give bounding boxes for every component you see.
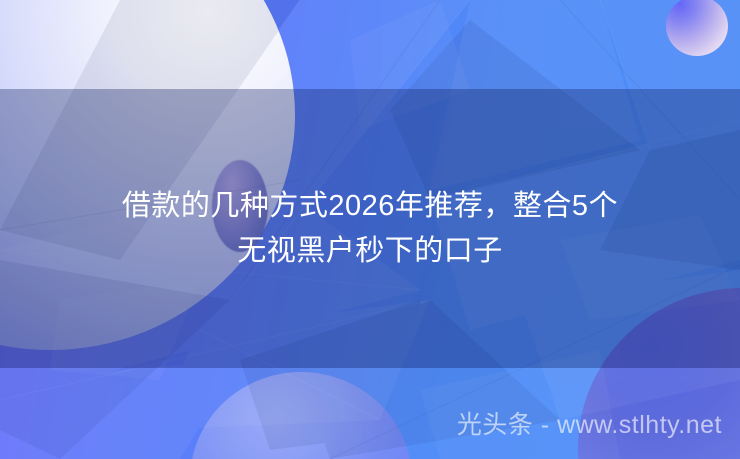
banner-title: 借款的几种方式2026年推荐，整合5个 无视黑户秒下的口子 bbox=[0, 184, 740, 274]
promo-banner-image: 借款的几种方式2026年推荐，整合5个 无视黑户秒下的口子 光头条 - www.… bbox=[0, 0, 740, 459]
ellipse-blob-top-right bbox=[666, 0, 728, 56]
site-watermark: 光头条 - www.stlhty.net bbox=[0, 405, 722, 445]
